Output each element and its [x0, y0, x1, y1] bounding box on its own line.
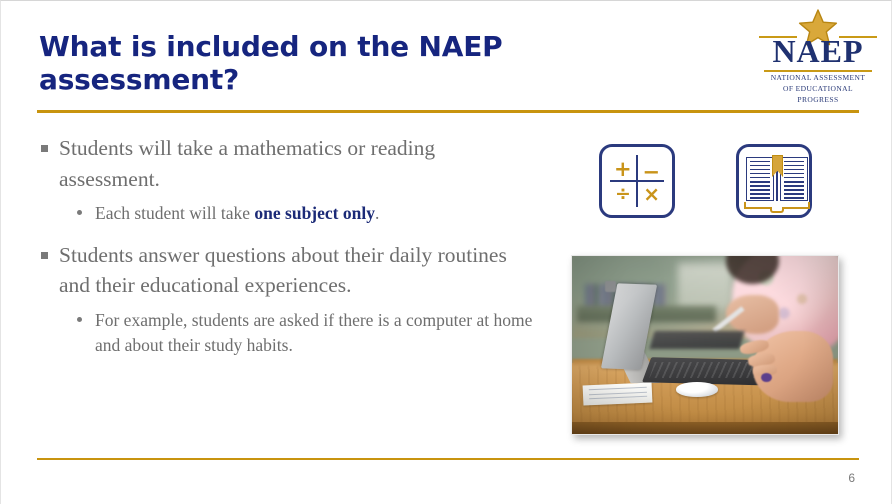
- book-tab: [770, 207, 784, 213]
- slide: What is included on the NAEP assessment?…: [0, 0, 892, 504]
- page-title: What is included on the NAEP assessment?: [39, 31, 599, 97]
- logo-tagline: NATIONAL ASSESSMENT OF EDUCATIONAL PROGR…: [753, 73, 883, 106]
- list-item: For example, students are asked if there…: [39, 308, 539, 358]
- classroom-tablet-photo: [571, 255, 839, 435]
- list-item: Students answer questions about their da…: [39, 240, 539, 301]
- square-bullet-icon: [41, 252, 48, 259]
- round-bullet-icon: [77, 210, 82, 215]
- multiply-icon: ×: [643, 184, 660, 204]
- logo-tagline-line1: NATIONAL ASSESSMENT: [753, 73, 883, 84]
- logo-tagline-line3: PROGRESS: [753, 95, 883, 106]
- bullet-text: Students answer questions about their da…: [59, 243, 507, 298]
- footer-divider: [37, 458, 859, 460]
- plus-icon: +: [614, 159, 632, 180]
- title-divider: [37, 110, 859, 113]
- bullet-text: Students will take a mathematics or read…: [59, 136, 435, 191]
- logo-underline: [764, 70, 872, 72]
- naep-logo: NAEP NATIONAL ASSESSMENT OF EDUCATIONAL …: [753, 9, 883, 101]
- sub-bullet-text: For example, students are asked if there…: [95, 310, 532, 355]
- square-bullet-icon: [41, 145, 48, 152]
- sub-bullet-suffix: .: [375, 203, 379, 223]
- bullet-group-1: Students will take a mathematics or read…: [39, 133, 539, 226]
- round-bullet-icon: [77, 317, 82, 322]
- divide-icon: ÷: [615, 185, 631, 204]
- logo-wordmark: NAEP: [753, 33, 883, 70]
- page-number: 6: [848, 471, 855, 485]
- list-item: Students will take a mathematics or read…: [39, 133, 539, 194]
- bullet-group-2: Students answer questions about their da…: [39, 240, 539, 358]
- body-content: Students will take a mathematics or read…: [39, 133, 539, 372]
- reading-book-icon: [736, 144, 812, 218]
- mathematics-icon: + − ÷ ×: [599, 144, 675, 218]
- book-page-right: [780, 157, 808, 201]
- list-item: Each student will take one subject only.: [39, 201, 539, 226]
- minus-icon: −: [642, 162, 660, 183]
- sub-bullet-emphasis: one subject only: [254, 203, 375, 223]
- sub-bullet-text: Each student will take: [95, 203, 254, 223]
- book-page-left: [746, 157, 774, 201]
- logo-tagline-line2: OF EDUCATIONAL: [753, 84, 883, 95]
